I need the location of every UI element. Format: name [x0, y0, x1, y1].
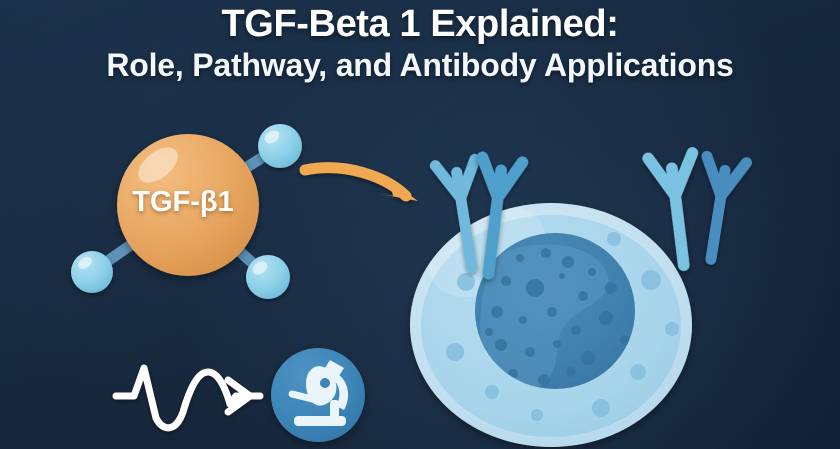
cell-group [410, 189, 692, 447]
antibody-right-inner [691, 156, 746, 262]
header-block: TGF-Beta 1 Explained: Role, Pathway, and… [0, 4, 840, 83]
microscope-badge[interactable] [271, 348, 365, 442]
satellite-bottom-right [246, 255, 290, 299]
signal-waveform [116, 368, 260, 428]
signal-arrow [305, 168, 418, 201]
infographic-canvas: TGF-Beta 1 Explained: Role, Pathway, and… [0, 0, 840, 449]
page-title: TGF-Beta 1 Explained: [0, 4, 840, 45]
molecule-core [117, 134, 259, 276]
page-subtitle: Role, Pathway, and Antibody Applications [0, 48, 840, 84]
satellite-top-right [258, 124, 302, 168]
satellite-bottom-left [71, 251, 113, 293]
molecule-group [71, 124, 302, 299]
